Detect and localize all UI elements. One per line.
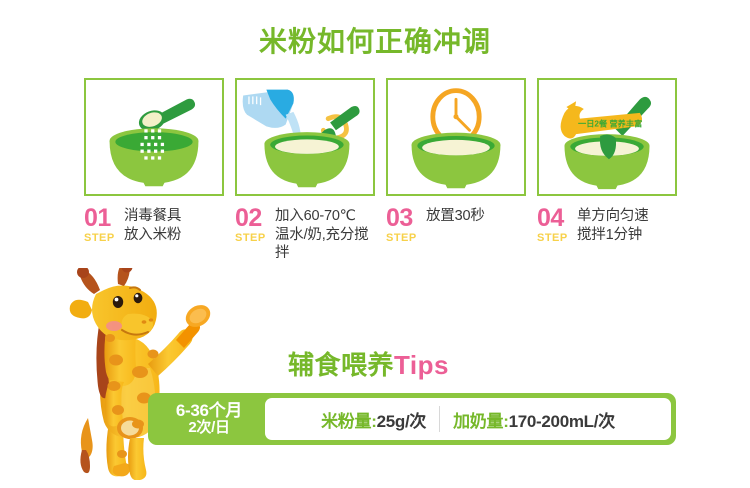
- step-number-01: 01: [84, 206, 124, 231]
- step-text-line1-03: 放置30秒: [426, 208, 485, 224]
- step-caption-03: 03 STEP 放置30秒: [386, 206, 526, 244]
- clock-over-bowl-icon: [388, 80, 524, 194]
- dose-cell-powder: 米粉量:25g/次: [308, 407, 439, 432]
- step-number-block-03: 03 STEP: [386, 206, 426, 244]
- tips-heading-cn: 辅食喂养: [288, 350, 394, 380]
- age-range: 6-36个月: [176, 401, 242, 420]
- step-text-02: 加入60-70℃ 温水/奶,充分搅拌: [275, 206, 375, 263]
- step-text-line2-01: 放入米粉: [124, 226, 224, 245]
- step-number-02: 02: [235, 206, 275, 231]
- pitcher-pouring-water-icon: [237, 80, 373, 194]
- step-word-01: STEP: [84, 233, 124, 244]
- step-word-03: STEP: [386, 233, 426, 244]
- info-bar: 6-36个月 2次/日 米粉量:25g/次 加奶量:170-200mL/次: [148, 393, 676, 445]
- step-figure-bowl-with-pitcher-pouring: [235, 78, 375, 196]
- dose-key-milk: 加奶量:: [453, 412, 508, 431]
- step-caption-04: 04 STEP 单方向匀速 搅拌1分钟: [537, 206, 677, 244]
- giraffe-icon: [52, 268, 222, 480]
- step-text-line1-01: 消毒餐具: [124, 208, 181, 224]
- page-title: 米粉如何正确冲调: [0, 20, 750, 60]
- giraffe-mascot: [52, 268, 222, 480]
- dose-cell-milk: 加奶量:170-200mL/次: [440, 407, 628, 432]
- step-number-block-04: 04 STEP: [537, 206, 577, 244]
- step-word-02: STEP: [235, 233, 275, 244]
- step-number-03: 03: [386, 206, 426, 231]
- dose-panel: 米粉量:25g/次 加奶量:170-200mL/次: [265, 398, 671, 440]
- step-text-line1-04: 单方向匀速: [577, 208, 649, 224]
- step-number-04: 04: [537, 206, 577, 231]
- step-figure-bowl-with-clock: [386, 78, 526, 196]
- step-word-04: STEP: [537, 233, 577, 244]
- tips-heading-en: Tips: [394, 350, 449, 380]
- step-figure-bowl-with-spoon-powder: [84, 78, 224, 196]
- step-item-03: 03 STEP 放置30秒: [386, 78, 526, 263]
- step-number-block-01: 01 STEP: [84, 206, 124, 244]
- feed-frequency: 2次/日: [153, 420, 265, 437]
- step-text-01: 消毒餐具 放入米粉: [124, 206, 224, 244]
- tips-heading: 辅食喂养Tips: [288, 345, 449, 382]
- step-caption-01: 01 STEP 消毒餐具 放入米粉: [84, 206, 224, 244]
- dose-value-milk: 170-200mL/次: [509, 412, 615, 431]
- step-text-line2-04: 搅拌1分钟: [577, 226, 677, 245]
- steps-row: 01 STEP 消毒餐具 放入米粉: [84, 78, 674, 263]
- age-block: 6-36个月 2次/日: [153, 401, 265, 437]
- step-text-04: 单方向匀速 搅拌1分钟: [577, 206, 677, 244]
- stirring-ribbon-bowl-icon: 一日2餐 营养丰富: [539, 80, 675, 194]
- dose-key-powder: 米粉量:: [321, 412, 376, 431]
- bowl-spoon-powder-icon: [86, 80, 222, 194]
- step-text-line2-02: 温水/奶,充分搅拌: [275, 226, 375, 263]
- step-number-block-02: 02 STEP: [235, 206, 275, 244]
- step-caption-02: 02 STEP 加入60-70℃ 温水/奶,充分搅拌: [235, 206, 375, 263]
- step-text-line1-02: 加入60-70℃: [275, 208, 356, 224]
- step-figure-bowl-with-stirring-ribbon: 一日2餐 营养丰富: [537, 78, 677, 196]
- step-item-02: 02 STEP 加入60-70℃ 温水/奶,充分搅拌: [235, 78, 375, 263]
- step-item-04: 一日2餐 营养丰富 04 STEP 单方向匀速 搅拌1分钟: [537, 78, 677, 263]
- dose-value-powder: 25g/次: [377, 412, 427, 431]
- step-text-03: 放置30秒: [426, 206, 526, 226]
- step-item-01: 01 STEP 消毒餐具 放入米粉: [84, 78, 224, 263]
- step4-ribbon-text: 一日2餐 营养丰富: [578, 118, 642, 128]
